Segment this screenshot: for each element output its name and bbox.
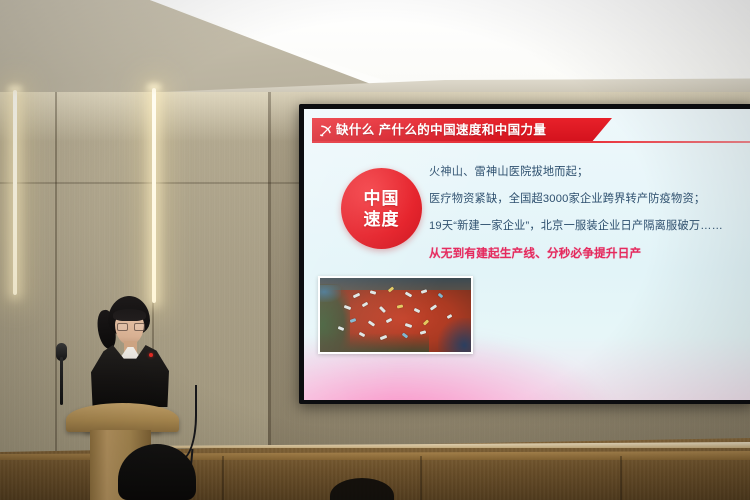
photo-vegetation-bottom bbox=[320, 333, 429, 352]
slide-body-text: 火神山、雷神山医院拔地而起； 医疗物资紧缺，全国超3000家企业跨界转产防疫物资… bbox=[429, 165, 749, 273]
slide-highlight-line: 从无到有建起生产线、分秒必争提升日产 bbox=[429, 246, 749, 261]
wall-panel-seam bbox=[55, 92, 57, 462]
wall-horizontal-seam bbox=[0, 182, 300, 184]
slide-body-line: 火神山、雷神山医院拔地而起； bbox=[429, 165, 749, 180]
led-strip-light bbox=[152, 88, 156, 303]
podium-top-surface bbox=[66, 403, 179, 432]
slide-title-banner: 缺什么 产什么的中国速度和中国力量 bbox=[312, 118, 612, 143]
led-strip-light bbox=[13, 90, 17, 295]
badge-line-2: 速度 bbox=[364, 209, 400, 230]
photo-water-right bbox=[438, 318, 471, 352]
china-speed-badge: 中国 速度 bbox=[341, 168, 422, 249]
slide-photo-construction-site bbox=[318, 276, 473, 354]
wainscot-divider bbox=[620, 456, 622, 500]
wainscot-divider bbox=[420, 456, 422, 500]
photo-scene: 缺什么 产什么的中国速度和中国力量 中国 速度 火神山、雷神山医院拔地而起； 医… bbox=[0, 0, 750, 500]
photo-water-topleft bbox=[320, 285, 341, 301]
speaker-glasses-left-lens bbox=[117, 323, 128, 331]
slide-body-line: 19天“新建一家企业”，北京一服装企业日产隔离服破万…… bbox=[429, 219, 749, 234]
speaker-person bbox=[86, 296, 172, 408]
slide-title-text: 缺什么 产什么的中国速度和中国力量 bbox=[336, 118, 546, 143]
projection-screen[interactable]: 缺什么 产什么的中国速度和中国力量 中国 速度 火神山、雷神山医院拔地而起； 医… bbox=[304, 109, 750, 400]
microphone-stem bbox=[60, 357, 63, 405]
slide-title-underline bbox=[312, 141, 750, 143]
badge-line-1: 中国 bbox=[364, 188, 400, 209]
slide-body-line: 医疗物资紧缺，全国超3000家企业跨界转产防疫物资； bbox=[429, 192, 749, 207]
speaker-bangs bbox=[113, 309, 146, 321]
speaker-lapel-badge bbox=[149, 353, 153, 357]
party-emblem-icon bbox=[317, 122, 334, 139]
led-strip-glow bbox=[8, 86, 22, 92]
wainscot-divider bbox=[222, 456, 224, 500]
led-strip-glow bbox=[147, 84, 161, 90]
speaker-glasses-right-lens bbox=[134, 323, 145, 331]
wall-panel-seam bbox=[268, 92, 271, 462]
